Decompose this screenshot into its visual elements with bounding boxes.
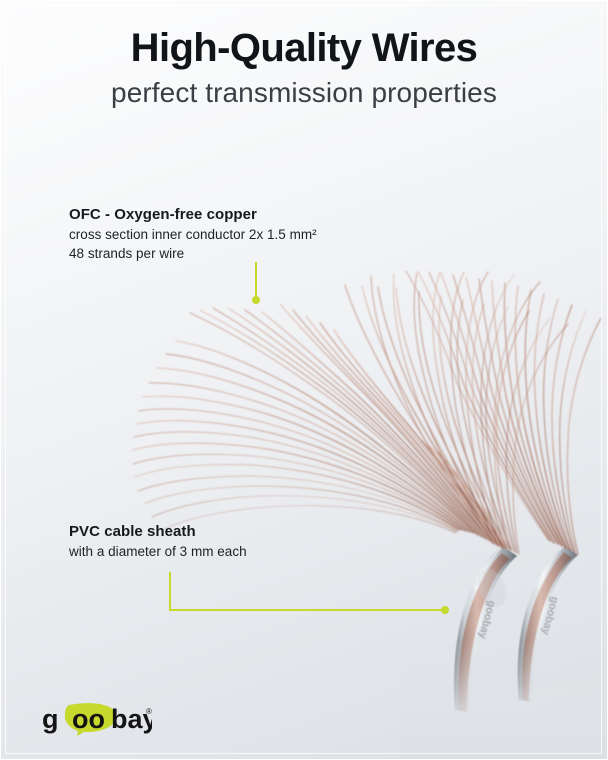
goobay-logo: g oo bay ® bbox=[42, 702, 152, 736]
annotation-pvc: PVC cable sheath with a diameter of 3 mm… bbox=[69, 523, 247, 561]
annotation-pvc-heading: PVC cable sheath bbox=[69, 523, 247, 542]
annotation-ofc-line-2: 48 strands per wire bbox=[69, 244, 317, 263]
page-subtitle: perfect transmission properties bbox=[0, 71, 608, 110]
logo-text-g: g bbox=[42, 704, 59, 734]
annotation-ofc-line-1: cross section inner conductor 2x 1.5 mm² bbox=[69, 225, 317, 244]
header: High-Quality Wires perfect transmission … bbox=[0, 0, 608, 109]
annotation-ofc: OFC - Oxygen-free copper cross section i… bbox=[69, 206, 317, 263]
annotation-ofc-heading: OFC - Oxygen-free copper bbox=[69, 206, 317, 225]
infographic-page: goobay goobay bbox=[0, 0, 608, 760]
page-title: High-Quality Wires bbox=[0, 0, 608, 71]
annotation-pvc-line-1: with a diameter of 3 mm each bbox=[69, 542, 247, 561]
product-photo-cable: goobay goobay bbox=[0, 0, 608, 760]
photo-bottom-fade bbox=[400, 640, 608, 760]
logo-text-oo: oo bbox=[72, 704, 105, 734]
registered-trademark-icon: ® bbox=[146, 707, 152, 716]
copper-strands-left bbox=[133, 272, 568, 554]
